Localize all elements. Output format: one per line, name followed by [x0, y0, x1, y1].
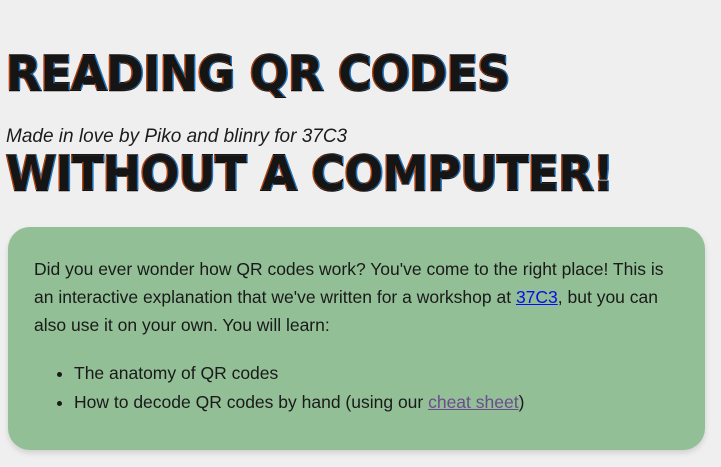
page-title-line-2: WITHOUT A COMPUTER!: [6, 150, 695, 200]
list-item-text-after-link: ): [519, 392, 525, 412]
page-root: READING QR CODES WITHOUT A COMPUTER! Mad…: [0, 0, 721, 467]
page-subtitle: Made in love by Piko and blinry for 37C3: [6, 125, 347, 149]
link-cheat-sheet[interactable]: cheat sheet: [428, 392, 518, 412]
page-title-line-1: READING QR CODES: [6, 50, 695, 100]
intro-callout-box: Did you ever wonder how QR codes work? Y…: [8, 227, 705, 450]
list-item: The anatomy of QR codes: [74, 359, 679, 388]
intro-paragraph: Did you ever wonder how QR codes work? Y…: [34, 255, 679, 339]
list-item-text-before-link: How to decode QR codes by hand (using ou…: [74, 392, 428, 412]
learn-list: The anatomy of QR codes How to decode QR…: [34, 359, 679, 417]
link-37c3[interactable]: 37C3: [516, 287, 558, 307]
list-item: How to decode QR codes by hand (using ou…: [74, 388, 679, 417]
list-item-text-before-link: The anatomy of QR codes: [74, 363, 278, 383]
